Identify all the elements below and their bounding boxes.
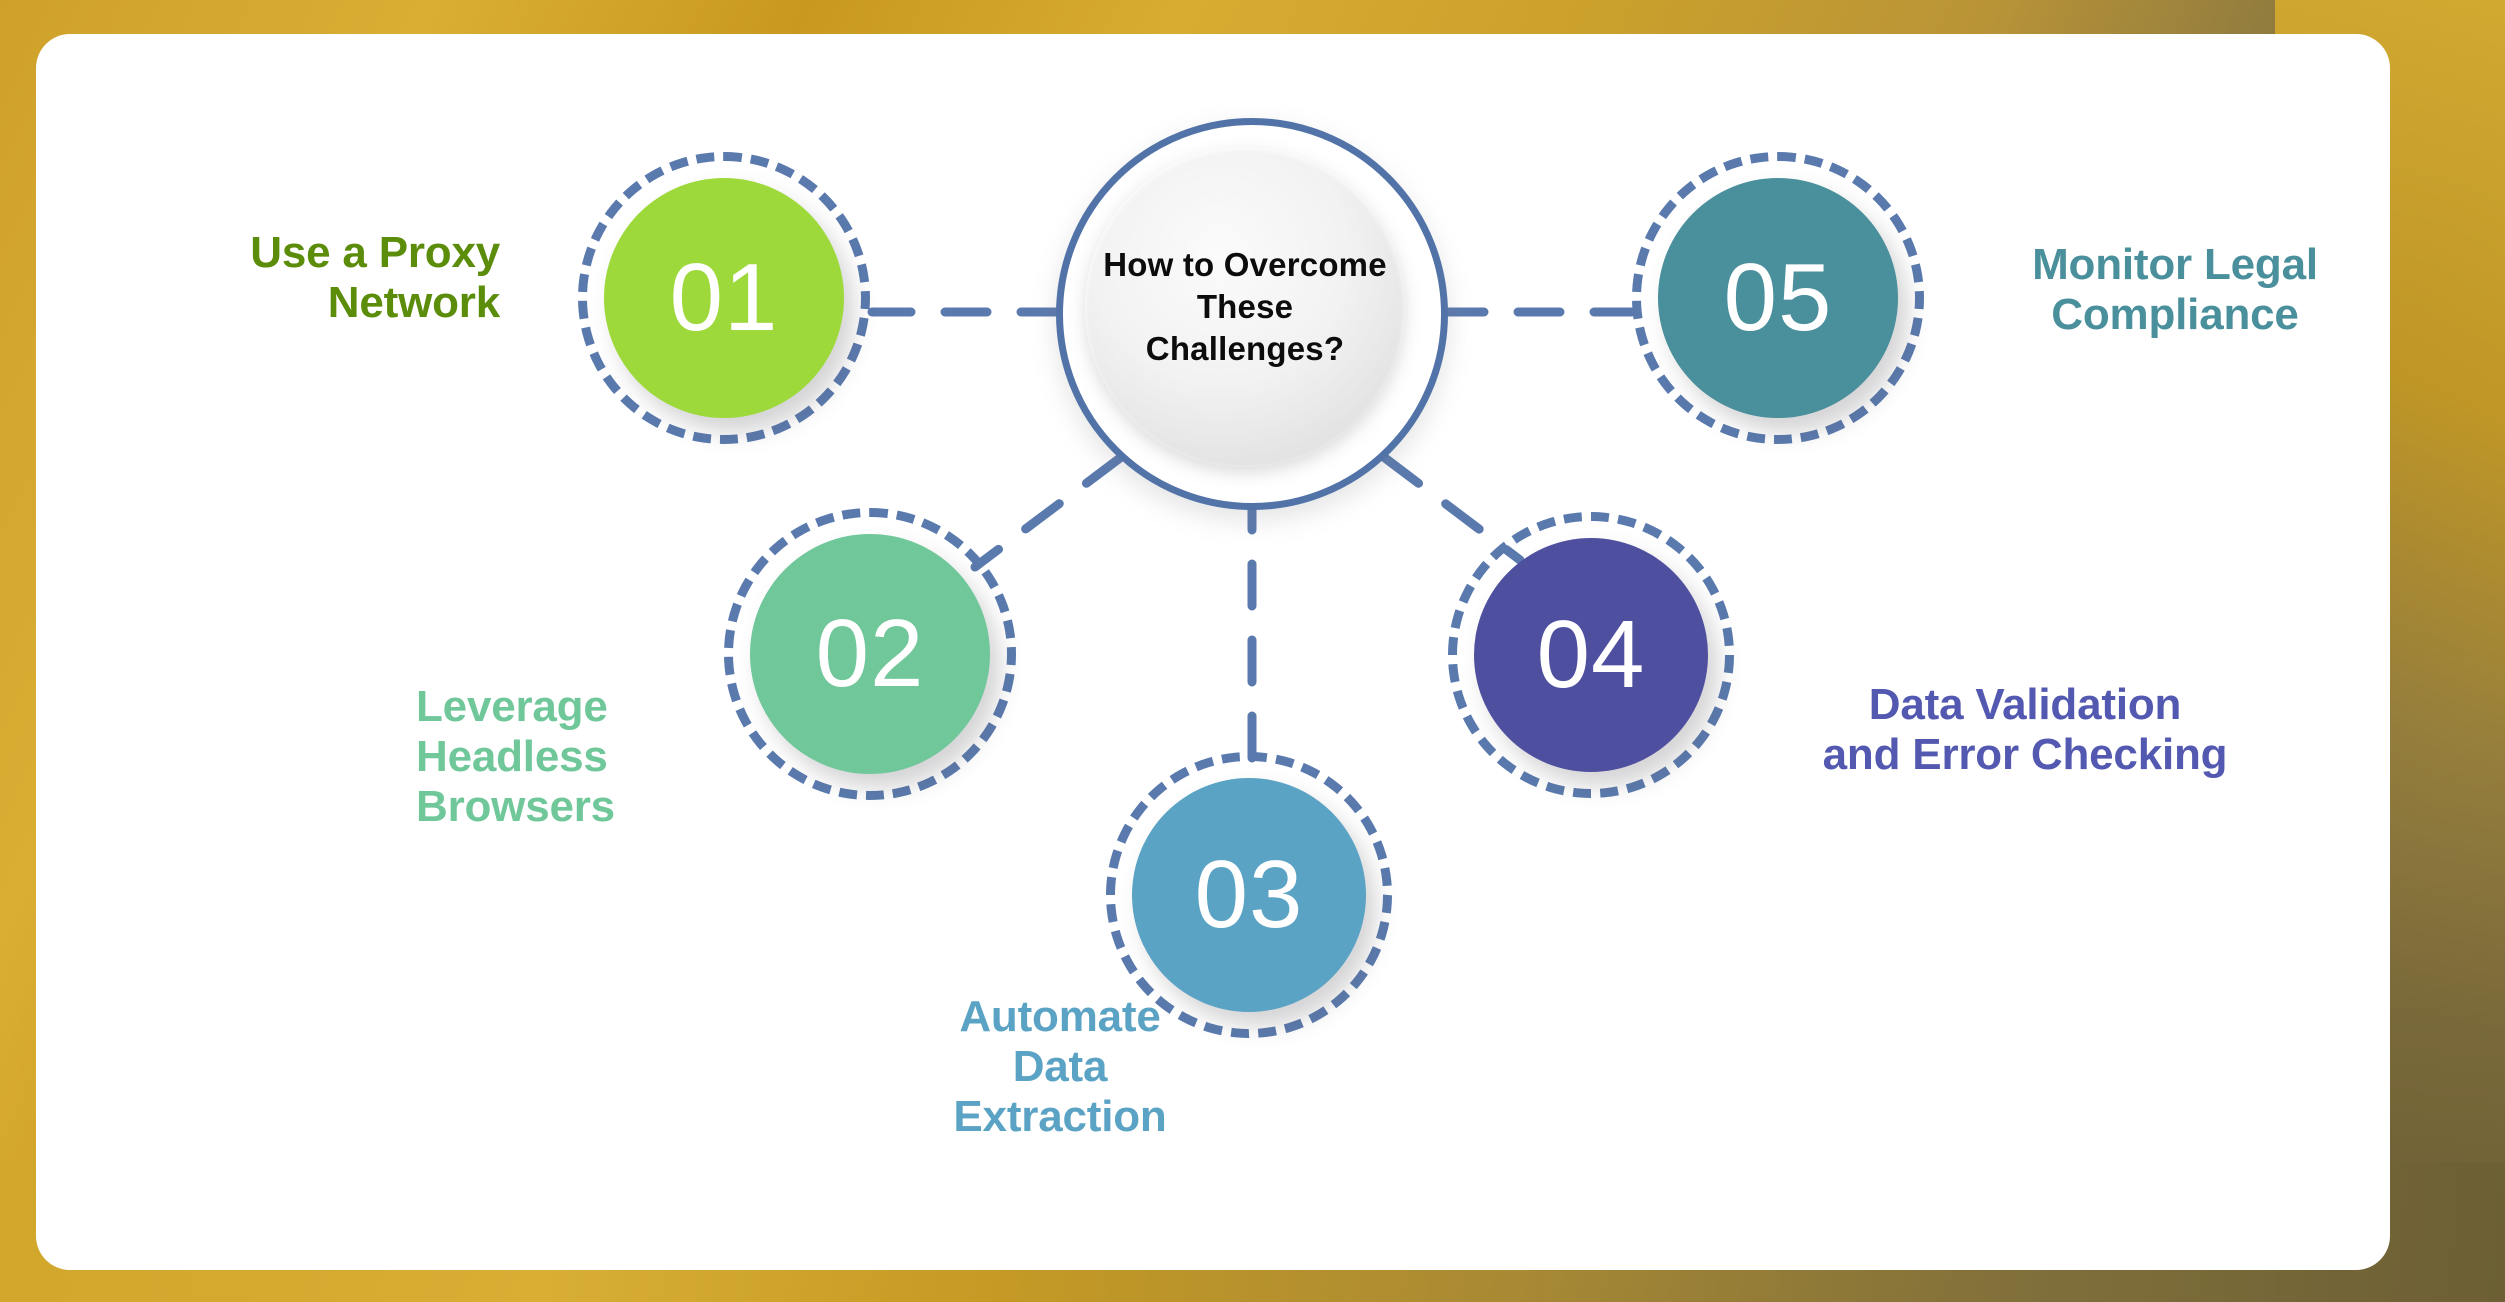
center-hub-inner-disc: How to Overcome These Challenges? (1085, 147, 1405, 467)
node-04-number: 04 (1537, 607, 1646, 703)
node-05-circle[interactable]: 05 (1658, 178, 1898, 418)
node-03-label: Automate Data Extraction (860, 992, 1260, 1142)
node-03-circle[interactable]: 03 (1132, 778, 1366, 1012)
node-02[interactable]: 02 (724, 508, 1016, 800)
node-04-circle[interactable]: 04 (1474, 538, 1708, 772)
node-03-number: 03 (1195, 847, 1304, 943)
connector-hub-to-02 (975, 458, 1120, 567)
node-01-circle[interactable]: 01 (604, 178, 844, 418)
node-02-circle[interactable]: 02 (750, 534, 990, 774)
node-05[interactable]: 05 (1632, 152, 1924, 444)
node-02-label: Leverage Headless Browsers (416, 682, 746, 832)
node-01[interactable]: 01 (578, 152, 870, 444)
node-01-number: 01 (670, 250, 779, 346)
node-05-number: 05 (1724, 250, 1833, 346)
center-hub-title: How to Overcome These Challenges? (1085, 244, 1405, 371)
node-04[interactable]: 04 (1448, 512, 1734, 798)
node-02-number: 02 (816, 606, 925, 702)
node-01-label: Use a Proxy Network (120, 228, 500, 328)
node-05-label: Monitor Legal Compliance (1960, 240, 2390, 340)
center-hub[interactable]: How to Overcome These Challenges? (1056, 118, 1448, 510)
node-04-label: Data Validation and Error Checking (1740, 680, 2310, 780)
challenges-hub-and-spoke-diagram: 01 Use a Proxy Network 02 Leverage Headl… (0, 0, 2505, 1302)
